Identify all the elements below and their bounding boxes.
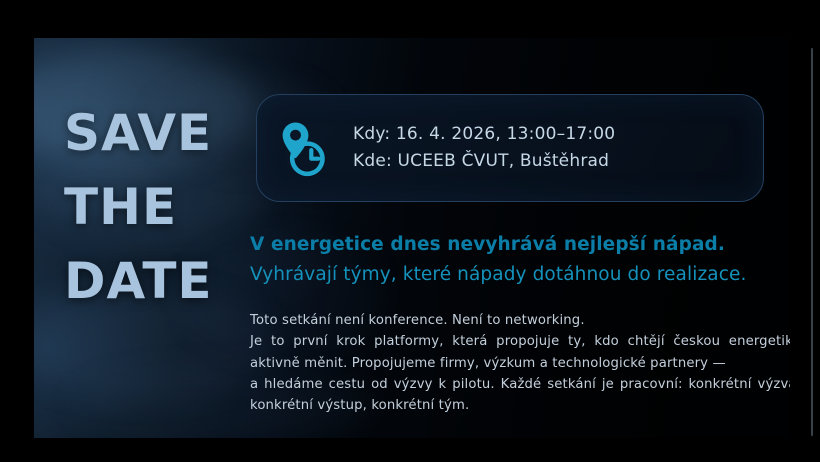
vertical-scrollbar[interactable] (811, 48, 813, 436)
body-copy: Toto setkání není konference. Není to ne… (250, 310, 790, 416)
body-line: Je to první krok platformy, která propoj… (250, 331, 790, 352)
title-line-the: THE (64, 170, 264, 244)
poster-canvas: SAVE THE DATE Kdy: 16. 4. 2026, 13:00–17… (0, 0, 820, 462)
save-the-date-title: SAVE THE DATE (64, 96, 264, 318)
poster-panel: SAVE THE DATE Kdy: 16. 4. 2026, 13:00–17… (34, 38, 790, 438)
title-line-save: SAVE (64, 96, 264, 170)
subheadline: Vyhrávají týmy, které nápady dotáhnou do… (250, 264, 790, 285)
body-line: a hledáme cestu od výzvy k pilotu. Každé… (250, 374, 790, 395)
event-info-card: Kdy: 16. 4. 2026, 13:00–17:00 Kde: UCEEB… (256, 94, 764, 202)
body-line: konkrétní výstup, konkrétní tým. (250, 395, 790, 416)
location-pin-clock-icon (257, 118, 353, 178)
event-where: Kde: UCEEB ČVUT, Buštěhrad (353, 151, 615, 172)
body-line: aktivně měnit. Propojujeme firmy, výzkum… (250, 353, 790, 374)
event-when: Kdy: 16. 4. 2026, 13:00–17:00 (353, 124, 615, 145)
event-info-text: Kdy: 16. 4. 2026, 13:00–17:00 Kde: UCEEB… (353, 124, 615, 172)
headline: V energetice dnes nevyhrává nejlepší náp… (250, 234, 790, 255)
body-line: Toto setkání není konference. Není to ne… (250, 310, 790, 331)
title-line-date: DATE (64, 244, 264, 318)
